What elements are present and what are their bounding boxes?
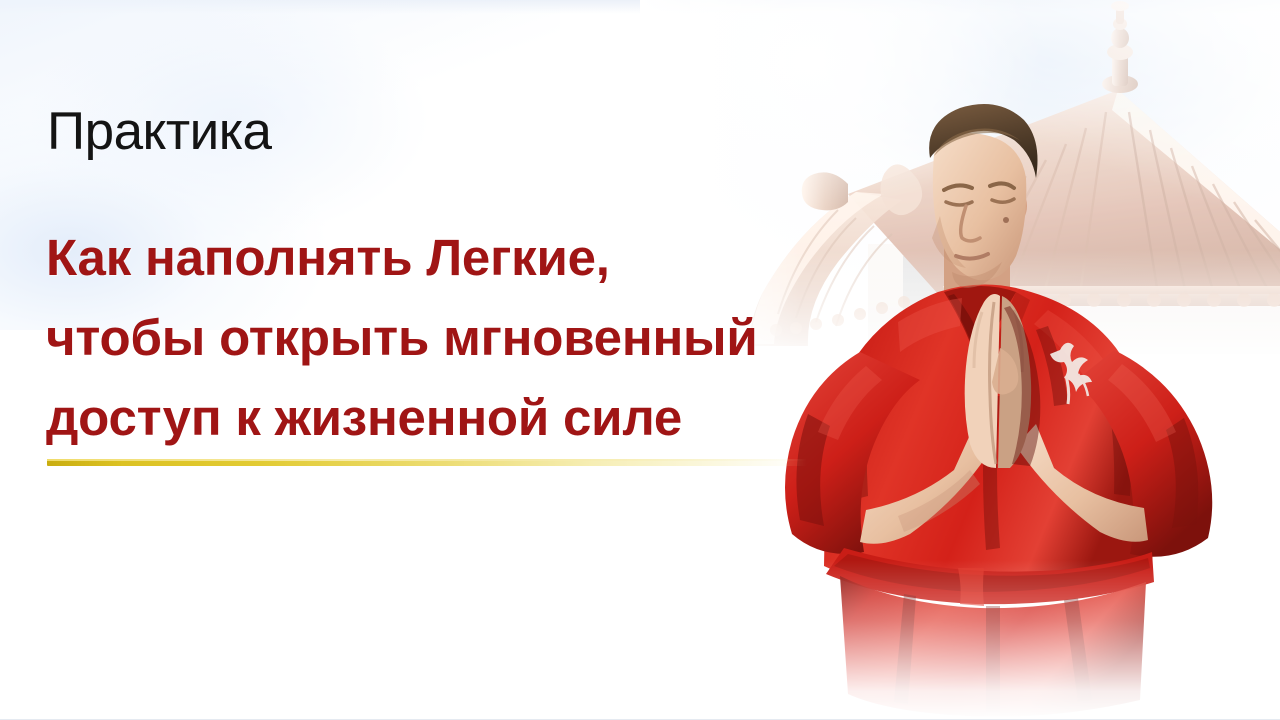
prayer-hands xyxy=(965,294,1031,468)
robe-chest-emblem xyxy=(1050,343,1092,404)
gold-divider-highlight xyxy=(47,459,807,461)
top-sky-wash xyxy=(0,0,1280,14)
person-bottom-fade xyxy=(748,560,1280,720)
page-eyebrow-title: Практика xyxy=(47,105,272,158)
headline-line-1: Как наполнять Легкие, xyxy=(46,218,946,298)
headline-line-2: чтобы открыть мгновенный xyxy=(46,298,946,378)
page-title: Как наполнять Легкие, чтобы открыть мгно… xyxy=(46,218,946,458)
pagoda-finial-ornament xyxy=(1102,1,1138,93)
slide-canvas: Практика Как наполнять Легкие, чтобы отк… xyxy=(0,0,1280,720)
headline-line-3: доступ к жизненной силе xyxy=(46,378,946,458)
